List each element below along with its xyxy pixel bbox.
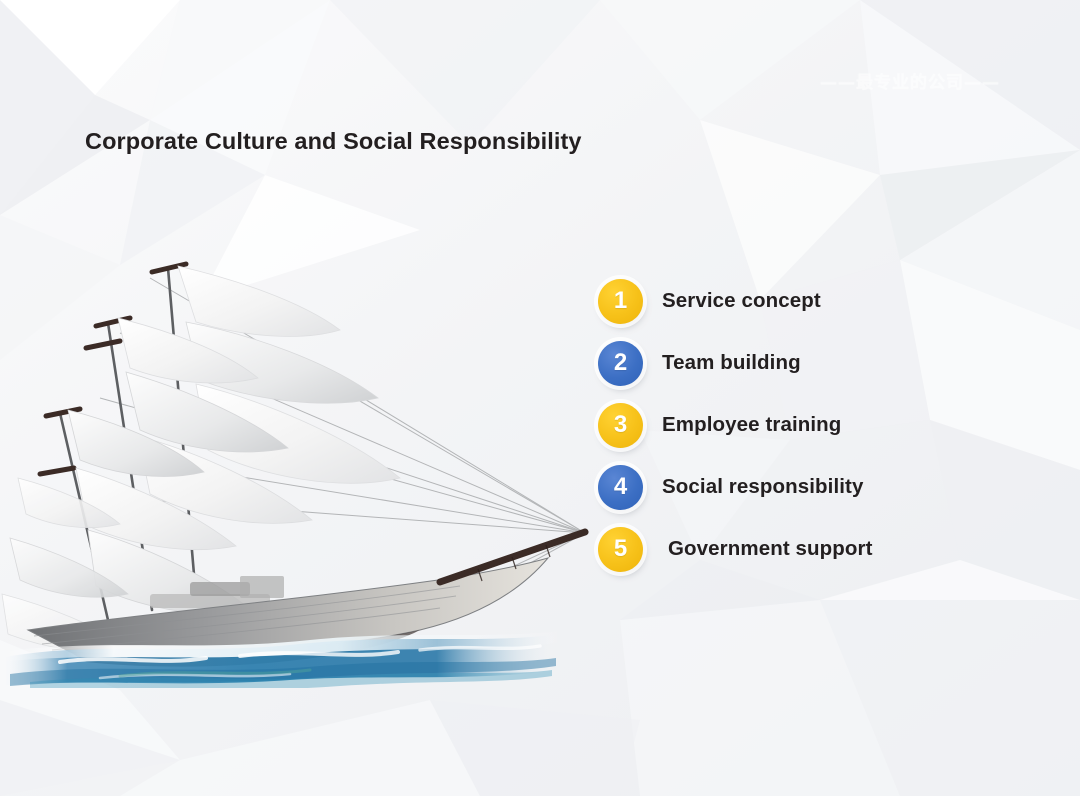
list-item[interactable]: 1 Service concept: [598, 270, 1068, 332]
list-item[interactable]: 3 Employee training: [598, 394, 1068, 456]
number-badge-1: 1: [598, 279, 643, 324]
page-title: Corporate Culture and Social Responsibil…: [85, 128, 582, 155]
feature-label-5: Government support: [668, 537, 873, 561]
number-badge-5: 5: [598, 527, 643, 572]
feature-label-1: Service concept: [662, 289, 821, 313]
feature-label-3: Employee training: [662, 413, 841, 437]
feature-list: 1 Service concept 2 Team building 3 Empl…: [598, 270, 1068, 580]
feature-label-2: Team building: [662, 351, 801, 375]
number-badge-4: 4: [598, 465, 643, 510]
list-item[interactable]: 4 Social responsibility: [598, 456, 1068, 518]
presentation-slide: ——最专业的公司—— Corporate Culture and Social …: [0, 0, 1080, 796]
list-item[interactable]: 2 Team building: [598, 332, 1068, 394]
number-badge-3: 3: [598, 403, 643, 448]
feature-label-4: Social responsibility: [662, 475, 863, 499]
sailing-ship-illustration: [0, 238, 620, 688]
number-badge-2: 2: [598, 341, 643, 386]
list-item[interactable]: 5 Government support: [598, 518, 1068, 580]
